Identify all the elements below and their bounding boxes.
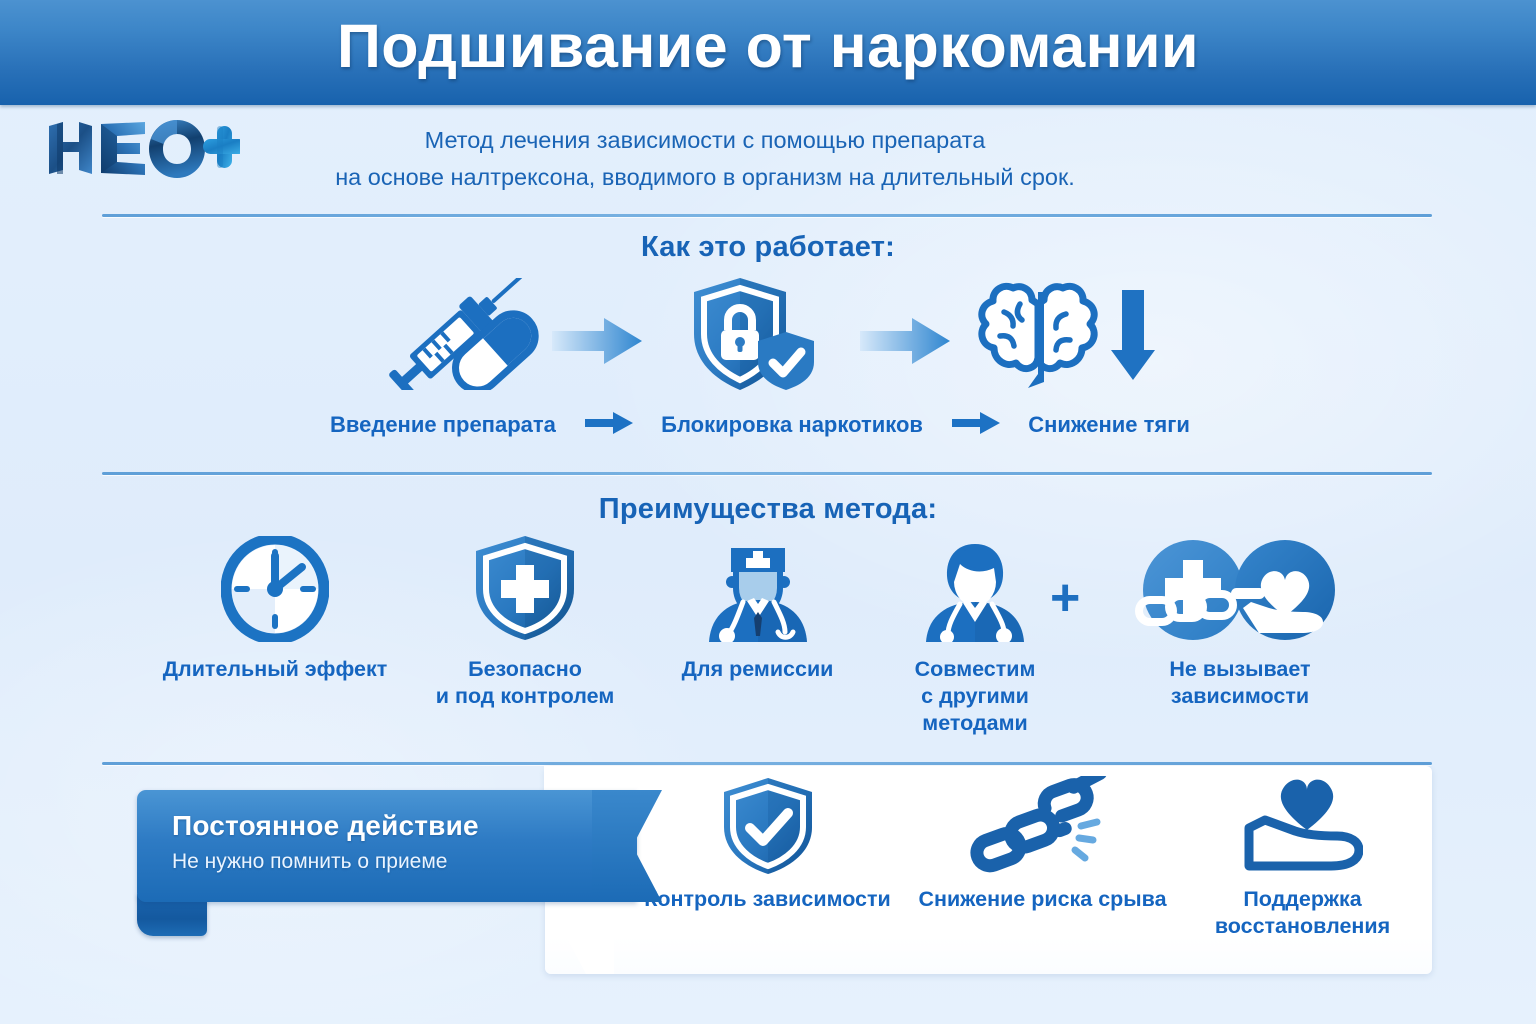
footer-card: Контроль зависимости [545,766,1432,974]
benefit-label-4-line3: методами [922,711,1027,735]
footer-item-control: Контроль зависимости [630,776,905,913]
ribbon-subtitle: Не нужно помнить о приеме [172,850,447,874]
infographic-page: Подшивание от наркомании [0,0,1536,1024]
ribbon-title: Постоянное действие [172,810,479,842]
shield-lock-icon [690,276,820,399]
divider-middle [102,472,1432,475]
arrow-right-icon-2 [860,318,950,369]
how-it-works-labels: Введение препарата Блокировка наркотиков… [330,405,1190,445]
benefit-label-3-line1: Для ремиссии [682,657,834,681]
broken-chain-icon [905,776,1180,876]
footer-label-3-line1: Поддержка [1243,887,1361,911]
footer-item-relapse: Снижение риска срыва [905,776,1180,913]
benefit-label-4-line2: с другими [921,684,1029,708]
brand-logo [45,118,240,180]
benefit-item-compatible: Совместим с другими методами [870,540,1080,737]
benefit-label-4-line1: Совместим [915,657,1036,681]
benefit-item-safe: Безопасно и под контролем [410,540,640,710]
benefits-heading: Преимущества метода: [0,493,1536,526]
divider-top [102,214,1432,217]
arrow-right-small-icon-1 [585,412,633,439]
benefit-item-long-effect: Длительный эффект [150,540,400,683]
footer-cards-row: Контроль зависимости [585,776,1425,974]
doctor-stethoscope-icon [870,540,1080,642]
ribbon-body [137,790,637,902]
footer-label-3-line2: восстановления [1215,914,1390,938]
footer-label-1: Контроль зависимости [644,887,891,911]
arrow-right-small-icon-2 [952,412,1000,439]
page-title: Подшивание от наркомании [0,11,1536,81]
shield-check-icon [630,776,905,876]
syringe-pill-icon [378,278,548,395]
benefit-label-1-line1: Длительный эффект [163,657,388,681]
footer-label-2: Снижение риска срыва [918,887,1166,911]
benefits-row: Длительный эффект Безопасно и под контро… [150,540,1390,755]
plus-symbol: + [1050,572,1080,624]
brain-down-arrow-icon [970,278,1155,401]
benefit-item-remission: Для ремиссии [655,540,860,683]
clock-icon [150,540,400,642]
how-step-label-1: Введение препарата [330,412,556,438]
how-it-works-icons [330,278,1190,393]
footer-ribbon: Постоянное действие Не нужно помнить о п… [137,790,657,925]
neo-plus-logo-icon [45,118,240,180]
subtitle-line-2: на основе налтрексона, вводимого в орган… [255,159,1155,196]
arrow-right-icon [552,318,642,369]
subtitle-block: Метод лечения зависимости с помощью преп… [255,122,1155,196]
benefit-label-2-line1: Безопасно [468,657,582,681]
heart-in-hand-icon [1195,776,1410,876]
doctor-nurse-icon [655,540,860,642]
divider-bottom [102,762,1432,765]
benefit-label-5-line1: Не вызывает [1169,657,1310,681]
how-step-label-2: Блокировка наркотиков [661,412,923,438]
subtitle-line-1: Метод лечения зависимости с помощью преп… [425,127,986,153]
how-it-works-heading: Как это работает: [0,231,1536,264]
footer-item-support: Поддержка восстановления [1195,776,1410,940]
chain-heart-circles-icon [1090,540,1390,642]
benefit-item-no-dependence: Не вызывает зависимости [1090,540,1390,710]
benefit-label-2-line2: и под контролем [436,684,614,708]
how-step-label-3: Снижение тяги [1028,412,1190,438]
shield-cross-icon [410,540,640,642]
page-header: Подшивание от наркомании [0,0,1536,105]
benefit-label-5-line2: зависимости [1171,684,1309,708]
ribbon-notch [592,790,662,902]
